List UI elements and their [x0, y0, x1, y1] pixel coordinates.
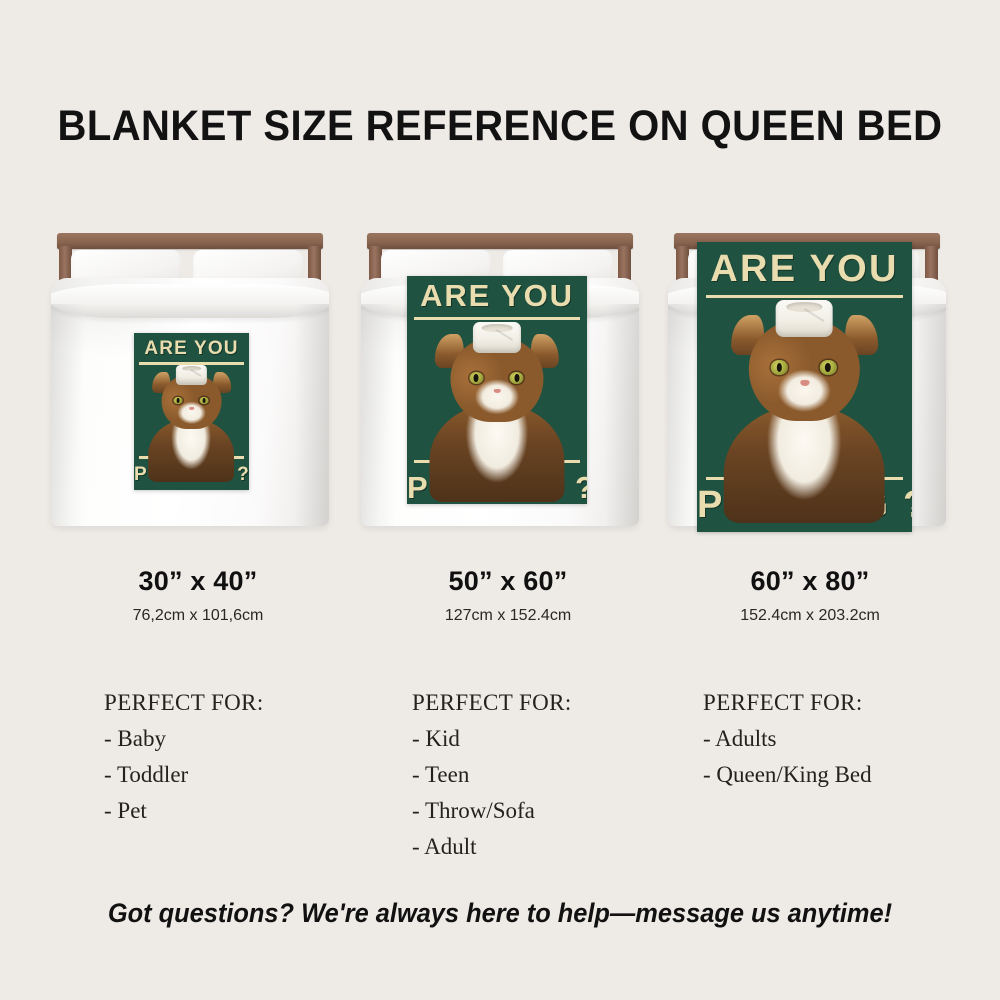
- cat-artwork: [147, 363, 237, 471]
- perfect-for-small: PERFECT FOR: - Baby - Toddler - Pet: [104, 685, 264, 829]
- duvet-fold: [51, 284, 329, 318]
- cat-nose: [800, 380, 809, 386]
- size-label-medium: 50” x 60” 127cm x 152.4cm: [348, 566, 668, 625]
- cat-artwork: [427, 320, 567, 480]
- headboard-rail: [57, 233, 323, 249]
- perfect-for-item: - Pet: [104, 793, 264, 829]
- size-inches: 60” x 80”: [650, 566, 970, 597]
- cat-nose: [189, 407, 194, 410]
- cat-eye-right: [510, 372, 524, 384]
- poster-top-text: ARE YOU: [407, 278, 587, 314]
- size-inches: 50” x 60”: [348, 566, 668, 597]
- blanket-print-large: ARE YOU POOPING ?: [697, 242, 912, 532]
- cat-eye-right: [200, 397, 209, 405]
- cat-eye-right: [820, 360, 837, 374]
- footer-message: Got questions? We're always here to help…: [30, 898, 970, 929]
- perfect-for-item: - Toddler: [104, 757, 264, 793]
- duvet-drape-left: [361, 304, 395, 526]
- bed-illustration-medium: ARE YOU POOPING ?: [355, 228, 645, 548]
- perfect-for-heading: PERFECT FOR:: [703, 685, 872, 721]
- perfect-for-item: - Teen: [412, 757, 572, 793]
- size-centimeters: 127cm x 152.4cm: [348, 607, 668, 625]
- size-centimeters: 152.4cm x 203.2cm: [650, 607, 970, 625]
- toilet-paper-roll-icon: [473, 322, 521, 353]
- cat-eye-left: [469, 372, 483, 384]
- cat-nose: [493, 389, 500, 394]
- cat-body: [724, 406, 885, 523]
- perfect-for-heading: PERFECT FOR:: [104, 685, 264, 721]
- perfect-for-item: - Throw/Sofa: [412, 793, 572, 829]
- perfect-for-item: - Kid: [412, 721, 572, 757]
- cat-artwork: [721, 298, 889, 504]
- duvet-drape-right: [295, 304, 329, 526]
- perfect-for-large: PERFECT FOR: - Adults - Queen/King Bed: [703, 685, 872, 793]
- cat-eye-left: [771, 360, 788, 374]
- blanket-print-medium: ARE YOU POOPING ?: [407, 276, 587, 504]
- toilet-paper-roll-icon: [176, 365, 206, 385]
- cat-eye-left: [174, 397, 183, 405]
- perfect-for-item: - Queen/King Bed: [703, 757, 872, 793]
- blanket-print-small: ARE YOU POOPING ?: [134, 333, 249, 490]
- size-inches: 30” x 40”: [38, 566, 358, 597]
- headboard-rail: [367, 233, 633, 249]
- size-label-small: 30” x 40” 76,2cm x 101,6cm: [38, 566, 358, 625]
- perfect-for-item: - Baby: [104, 721, 264, 757]
- poster-top-text: ARE YOU: [697, 248, 912, 291]
- size-centimeters: 76,2cm x 101,6cm: [38, 607, 358, 625]
- poster-top-text: ARE YOU: [134, 338, 249, 360]
- size-label-large: 60” x 80” 152.4cm x 203.2cm: [650, 566, 970, 625]
- duvet-drape-right: [912, 304, 946, 526]
- bed-illustration-small: ARE YOU POOPING ?: [45, 228, 335, 548]
- duvet-drape-left: [51, 304, 85, 526]
- toilet-paper-roll-icon: [776, 300, 833, 337]
- perfect-for-item: - Adult: [412, 829, 572, 865]
- bed-illustration-large: ARE YOU POOPING ?: [662, 228, 952, 548]
- page-title: BLANKET SIZE REFERENCE ON QUEEN BED: [35, 102, 965, 151]
- bed-comparison-row: ARE YOU POOPING ?: [0, 228, 1000, 548]
- perfect-for-medium: PERFECT FOR: - Kid - Teen - Throw/Sofa -…: [412, 685, 572, 865]
- perfect-for-heading: PERFECT FOR:: [412, 685, 572, 721]
- duvet-drape-right: [605, 304, 639, 526]
- perfect-for-item: - Adults: [703, 721, 872, 757]
